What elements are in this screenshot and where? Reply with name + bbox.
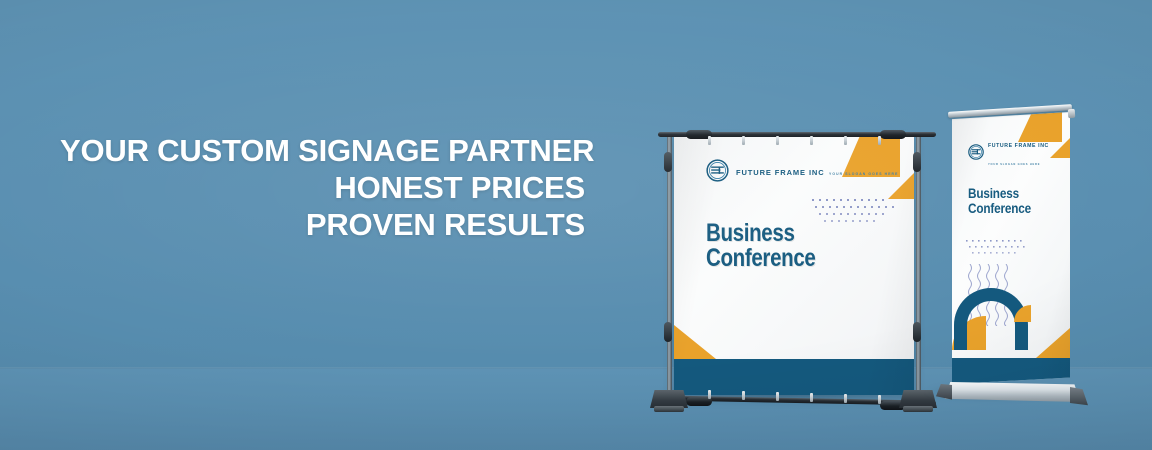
banner-clip <box>878 136 881 145</box>
rollup-title-line-2: Conference <box>968 201 1031 216</box>
orange-corner-triangle-bottom <box>674 325 716 359</box>
banner-clip <box>844 136 847 145</box>
brand-slogan: YOUR SLOGAN GOES HERE <box>988 163 1040 166</box>
backdrop-title-line-1: Business <box>706 221 816 246</box>
banner-clip <box>776 136 779 145</box>
dot-grid-pattern <box>812 199 907 232</box>
base-pad <box>903 406 933 412</box>
backdrop-logo-text: FUTURE FRAME INC YOUR SLOGAN GOES HERE <box>736 162 898 180</box>
circular-monogram-icon <box>706 159 729 182</box>
banner-clip <box>844 394 847 403</box>
banner-clip <box>708 390 711 399</box>
pole-clamp-lower-right <box>913 322 921 342</box>
backdrop-title-line-2: Conference <box>706 246 816 271</box>
banner-clip <box>776 392 779 401</box>
pole-clamp-upper-left <box>664 152 672 172</box>
pole-clamp-lower-left <box>664 322 672 342</box>
base-end-cap-right <box>1070 387 1088 406</box>
frame-base-foot-left <box>650 388 688 414</box>
backdrop-logo-lockup: FUTURE FRAME INC YOUR SLOGAN GOES HERE <box>706 159 898 182</box>
pole-clamp-upper-right <box>913 152 921 172</box>
hero-scene: YOUR CUSTOM SIGNAGE PARTNER HONEST PRICE… <box>0 0 1152 450</box>
backdrop-printed-canvas: FUTURE FRAME INC YOUR SLOGAN GOES HERE <box>674 137 914 395</box>
base-pad <box>654 406 684 412</box>
backdrop-banner-title: Business Conference <box>706 221 816 271</box>
orange-corner-triangle-small <box>1050 138 1070 158</box>
rollup-banner-title: Business Conference <box>968 186 1031 216</box>
headline-line-2: HONEST PRICES <box>60 169 585 206</box>
brand-slogan: YOUR SLOGAN GOES HERE <box>829 172 898 176</box>
hero-headline: YOUR CUSTOM SIGNAGE PARTNER HONEST PRICE… <box>60 132 585 243</box>
rollup-banner-display: FUTURE FRAME INC YOUR SLOGAN GOES HERE B… <box>930 100 1090 418</box>
banner-clip <box>810 136 813 145</box>
orange-corner-triangle-bottom <box>1036 328 1070 358</box>
backdrop-banner-display: FUTURE FRAME INC YOUR SLOGAN GOES HERE <box>652 126 942 411</box>
rollup-printed-canvas: FUTURE FRAME INC YOUR SLOGAN GOES HERE B… <box>952 112 1070 384</box>
banner-clip <box>742 391 745 400</box>
rollup-logo-lockup: FUTURE FRAME INC YOUR SLOGAN GOES HERE <box>968 134 1070 170</box>
banner-clip <box>878 395 881 404</box>
headline-line-1: YOUR CUSTOM SIGNAGE PARTNER <box>60 132 585 169</box>
orange-quarter-circle <box>952 316 986 350</box>
banner-clip <box>810 393 813 402</box>
brand-name: FUTURE FRAME INC <box>736 168 825 177</box>
frame-knob-top-right <box>880 130 906 139</box>
circular-monogram-icon <box>968 144 984 160</box>
banner-clip <box>708 136 711 145</box>
teal-arch-shape <box>954 288 1028 350</box>
headline-line-3: PROVEN RESULTS <box>60 206 585 243</box>
base-body <box>942 382 1080 402</box>
rollup-title-line-1: Business <box>968 186 1031 201</box>
wave-line-pattern <box>966 264 1022 331</box>
orange-quarter-circle-small <box>1014 305 1031 322</box>
frame-pole-right <box>916 134 921 400</box>
dot-grid-pattern <box>966 240 1040 265</box>
rollup-logo-text: FUTURE FRAME INC YOUR SLOGAN GOES HERE <box>988 134 1070 170</box>
frame-pole-left <box>667 134 672 400</box>
rollup-cassette-base <box>936 378 1086 408</box>
base-end-cap-left <box>936 384 952 401</box>
orange-corner-triangle-top <box>1018 112 1062 142</box>
banner-clip <box>742 136 745 145</box>
rollup-rail-cap <box>1068 109 1076 118</box>
brand-name: FUTURE FRAME INC <box>988 143 1049 149</box>
